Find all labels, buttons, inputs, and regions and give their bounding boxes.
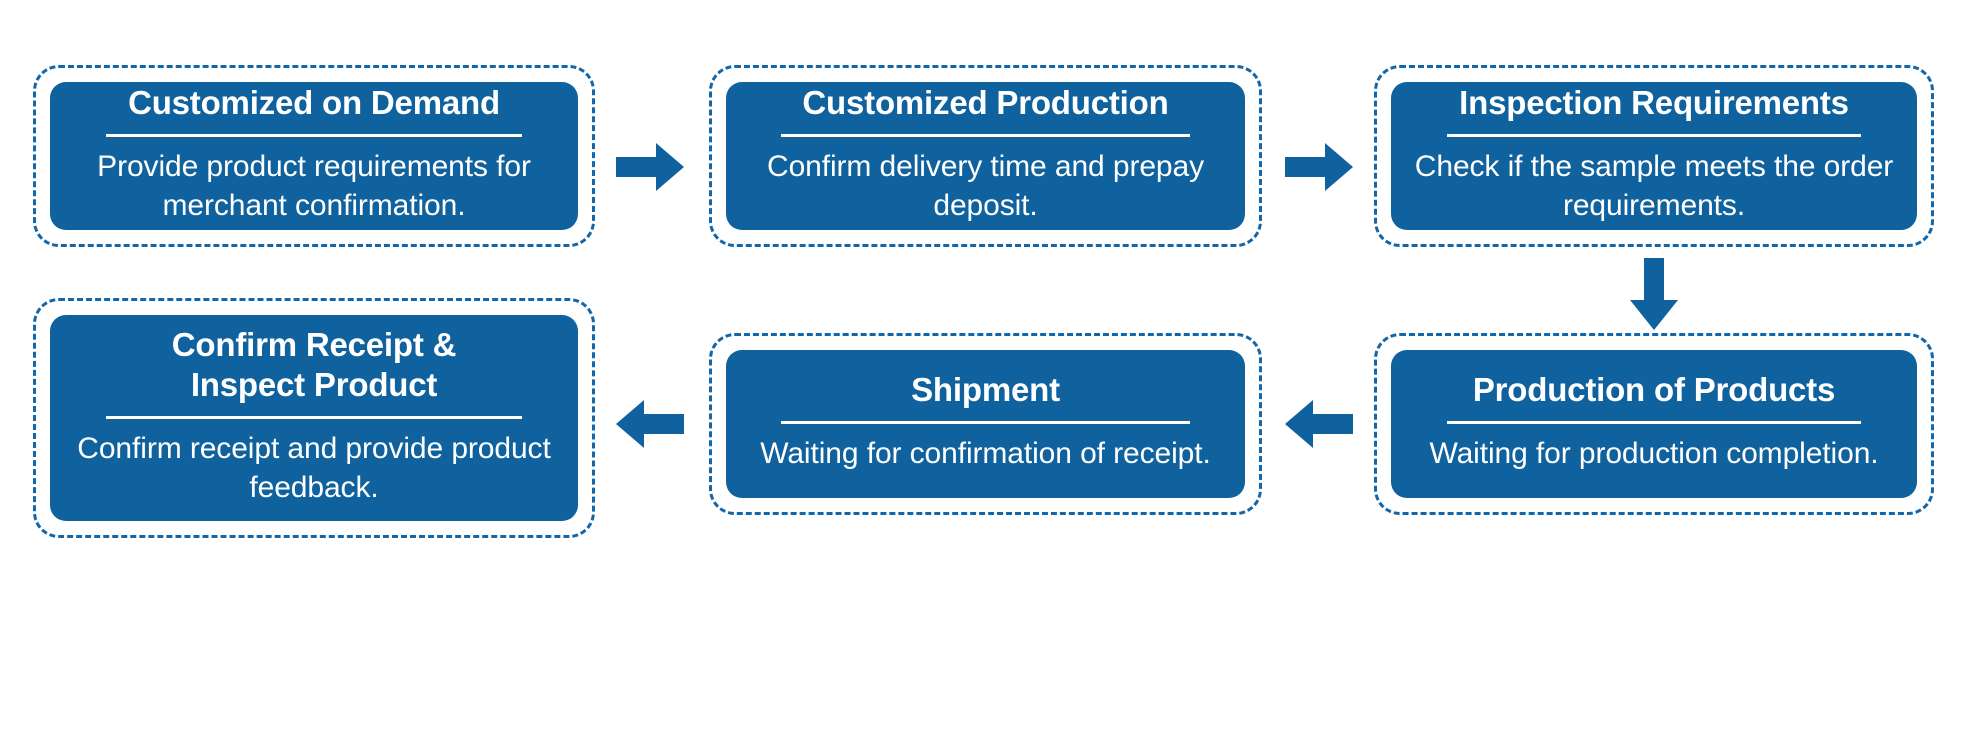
arrow-right-icon-step2-step3 [1283, 141, 1355, 193]
step-description: Waiting for confirmation of receipt. [760, 435, 1210, 473]
arrow-down-icon-step3-step4 [1628, 256, 1680, 332]
step-card-inner: Production of Products Waiting for produ… [1391, 350, 1917, 498]
step-description: Waiting for production completion. [1429, 435, 1878, 473]
step-divider [106, 134, 522, 137]
step-divider [781, 421, 1190, 424]
arrow-right-icon-step1-step2 [614, 141, 686, 193]
step-card-inner: Customized on Demand Provide product req… [50, 82, 578, 230]
step-card-customized-production[interactable]: Customized Production Confirm delivery t… [709, 65, 1262, 247]
step-card-inner: Customized Production Confirm delivery t… [726, 82, 1245, 230]
step-description: Confirm delivery time and prepay deposit… [748, 148, 1223, 225]
step-card-inner: Inspection Requirements Check if the sam… [1391, 82, 1917, 230]
step-title: Shipment [911, 370, 1060, 410]
step-description: Check if the sample meets the order requ… [1413, 148, 1895, 225]
step-card-inspection-requirements[interactable]: Inspection Requirements Check if the sam… [1374, 65, 1934, 247]
step-title: Customized Production [802, 83, 1168, 123]
step-divider [781, 134, 1190, 137]
step-divider [106, 416, 522, 419]
step-title: Production of Products [1473, 370, 1835, 410]
step-description: Confirm receipt and provide product feed… [72, 430, 556, 507]
arrow-left-icon-step5-step6 [614, 398, 686, 450]
flowchart-canvas: Customized on Demand Provide product req… [0, 0, 1967, 741]
step-card-confirm-receipt-inspect-product[interactable]: Confirm Receipt & Inspect Product Confir… [33, 298, 595, 538]
arrow-left-icon-step4-step5 [1283, 398, 1355, 450]
step-card-customized-on-demand[interactable]: Customized on Demand Provide product req… [33, 65, 595, 247]
step-divider [1447, 421, 1862, 424]
step-card-inner: Confirm Receipt & Inspect Product Confir… [50, 315, 578, 521]
step-title: Confirm Receipt & Inspect Product [172, 325, 456, 406]
step-description: Provide product requirements for merchan… [72, 148, 556, 225]
step-card-inner: Shipment Waiting for confirmation of rec… [726, 350, 1245, 498]
step-title: Customized on Demand [128, 83, 500, 123]
step-divider [1447, 134, 1862, 137]
step-card-production-of-products[interactable]: Production of Products Waiting for produ… [1374, 333, 1934, 515]
step-title: Inspection Requirements [1459, 83, 1849, 123]
step-card-shipment[interactable]: Shipment Waiting for confirmation of rec… [709, 333, 1262, 515]
